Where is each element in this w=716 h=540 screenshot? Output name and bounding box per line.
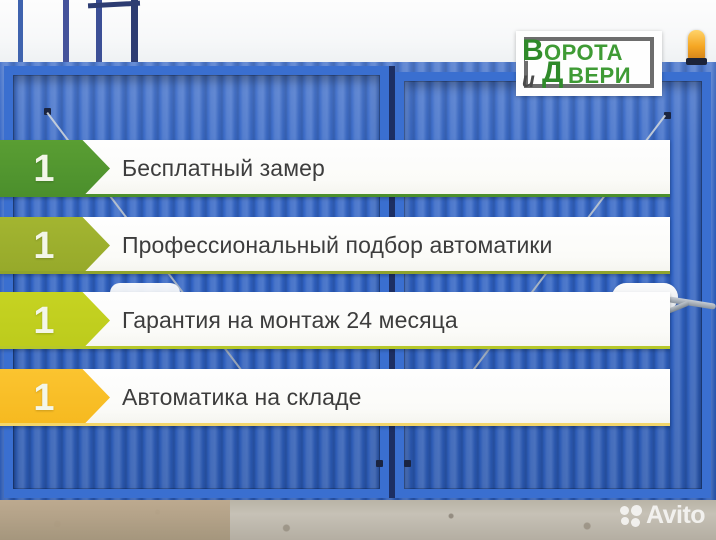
ground-dirt (0, 500, 230, 540)
banner-label: Бесплатный замер (122, 155, 325, 182)
banner-arrow-3: 1 (0, 292, 110, 349)
gate-center-gap (389, 66, 395, 498)
arrow-shape (0, 217, 110, 274)
warning-beacon-lamp (688, 30, 705, 60)
support-post (18, 0, 23, 62)
avito-wordmark: Avito (646, 503, 705, 528)
feature-banner-2: 1 Профессиональный подбор автоматики (0, 217, 670, 274)
logo-word-veri: ВЕРИ (568, 65, 631, 87)
avito-dots-icon (620, 505, 642, 527)
arrow-shape (0, 140, 110, 197)
logo-letter-b: В (522, 36, 544, 66)
logo-letter-d: Д (542, 58, 564, 88)
beacon-base (686, 58, 707, 65)
banner-number: 1 (33, 379, 54, 417)
ad-image: В ОРОТА и Д ВЕРИ 1 Бесплатный замер 1 Пр… (0, 0, 716, 540)
arrow-shape (0, 292, 110, 349)
banner-arrow-1: 1 (0, 140, 110, 197)
banner-underline (0, 423, 670, 426)
banner-label: Автоматика на складе (122, 384, 361, 411)
support-post (63, 0, 69, 62)
banner-label: Гарантия на монтаж 24 месяца (122, 307, 458, 334)
logo-letter-i: и (522, 70, 535, 91)
banner-arrow-2: 1 (0, 217, 110, 274)
banner-underline (0, 346, 670, 349)
support-post (131, 0, 138, 62)
banner-underline (0, 194, 670, 197)
cable-anchor (376, 460, 383, 467)
arrow-shape (0, 369, 110, 426)
leaf-inner-shadow (13, 75, 380, 489)
support-post (96, 0, 102, 62)
feature-banner-3: 1 Гарантия на монтаж 24 месяца (0, 292, 670, 349)
banner-label: Профессиональный подбор автоматики (122, 232, 553, 259)
feature-banner-1: 1 Бесплатный замер (0, 140, 670, 197)
feature-banner-4: 1 Автоматика на складе (0, 369, 670, 426)
company-logo: В ОРОТА и Д ВЕРИ (516, 31, 662, 96)
banner-number: 1 (33, 227, 54, 265)
banner-number: 1 (33, 150, 54, 188)
banner-underline (0, 271, 670, 274)
cable-anchor (404, 460, 411, 467)
banner-number: 1 (33, 302, 54, 340)
avito-watermark: Avito (620, 503, 705, 528)
banner-arrow-4: 1 (0, 369, 110, 426)
